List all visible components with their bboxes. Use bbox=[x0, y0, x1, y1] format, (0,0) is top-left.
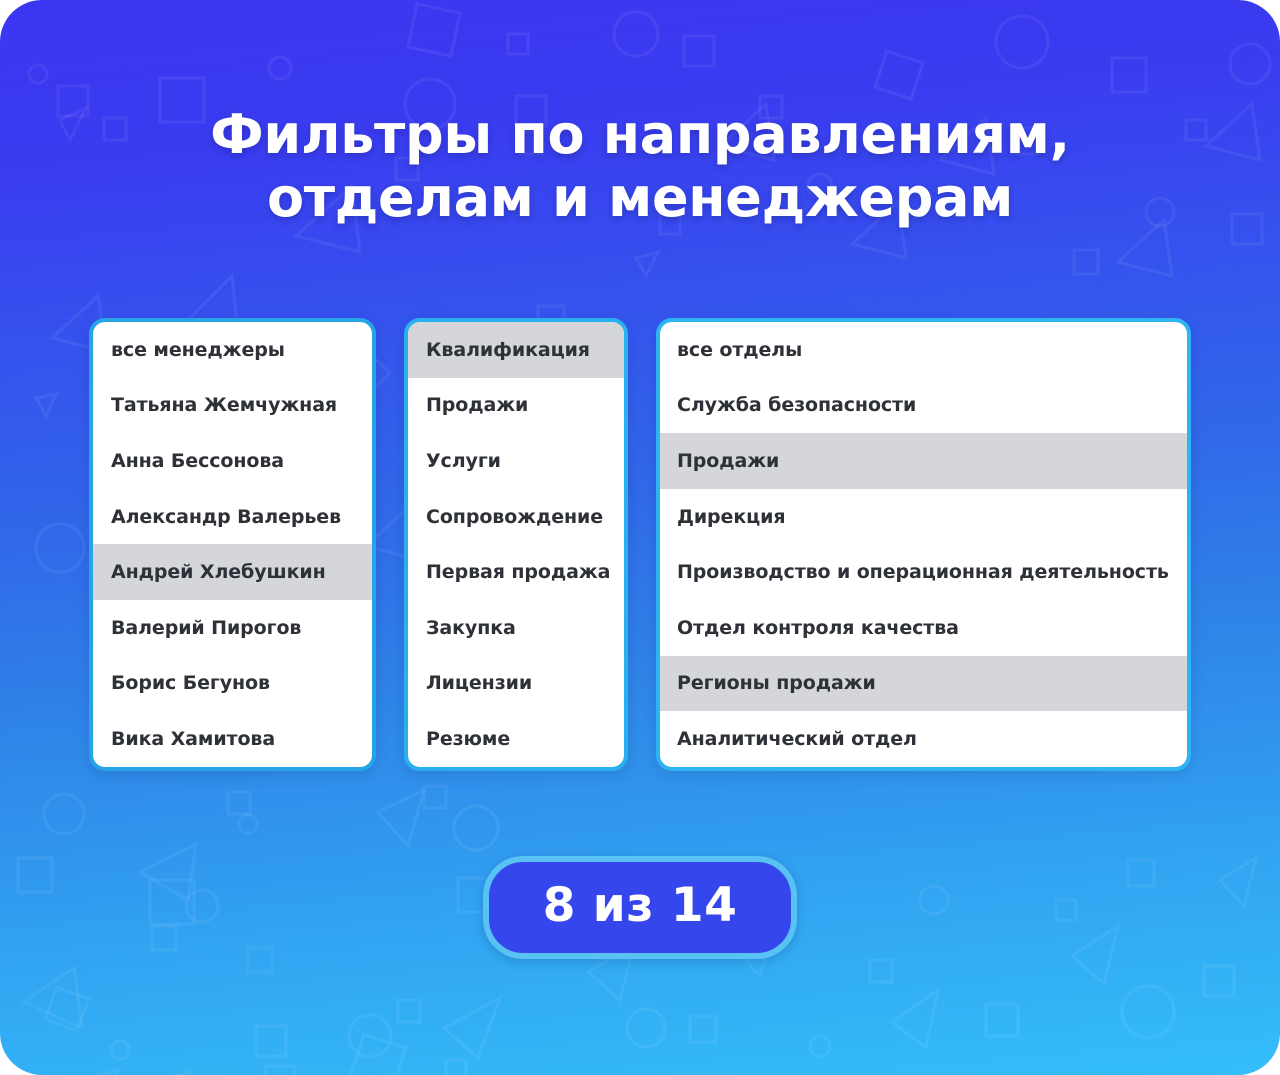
departments-item[interactable]: все отделы bbox=[660, 322, 1187, 378]
counter-badge[interactable]: 8 из 14 bbox=[483, 856, 798, 959]
directions-item[interactable]: Продажи bbox=[408, 378, 624, 434]
filters-row: все менеджерыТатьяна ЖемчужнаяАнна Бессо… bbox=[89, 318, 1191, 771]
departments-item[interactable]: Аналитический отдел bbox=[660, 711, 1187, 767]
departments-item[interactable]: Производство и операционная деятельность bbox=[660, 544, 1187, 600]
directions-item[interactable]: Лицензии bbox=[408, 656, 624, 712]
directions-item[interactable]: Услуги bbox=[408, 433, 624, 489]
managers-item[interactable]: Борис Бегунов bbox=[93, 656, 372, 712]
directions-item[interactable]: Квалификация bbox=[408, 322, 624, 378]
counter-area: 8 из 14 bbox=[0, 856, 1280, 959]
managers-item[interactable]: Валерий Пирогов bbox=[93, 600, 372, 656]
departments-list[interactable]: все отделыСлужба безопасностиПродажиДире… bbox=[660, 322, 1187, 767]
managers-item[interactable]: Андрей Хлебушкин bbox=[93, 544, 372, 600]
directions-list[interactable]: КвалификацияПродажиУслугиСопровождениеПе… bbox=[408, 322, 624, 767]
managers-filter-panel[interactable]: все менеджерыТатьяна ЖемчужнаяАнна Бессо… bbox=[89, 318, 376, 771]
page-title: Фильтры по направлениям, отделам и менед… bbox=[0, 104, 1280, 229]
directions-item[interactable]: Сопровождение bbox=[408, 489, 624, 545]
slide-canvas: Фильтры по направлениям, отделам и менед… bbox=[0, 0, 1280, 1075]
directions-item[interactable]: Первая продажа bbox=[408, 544, 624, 600]
directions-item[interactable]: Резюме bbox=[408, 711, 624, 767]
managers-item[interactable]: Александр Валерьев bbox=[93, 489, 372, 545]
departments-filter-panel[interactable]: все отделыСлужба безопасностиПродажиДире… bbox=[656, 318, 1191, 771]
managers-item[interactable]: все менеджеры bbox=[93, 322, 372, 378]
page-title-line-2: отделам и менеджерам bbox=[60, 167, 1220, 230]
departments-item[interactable]: Отдел контроля качества bbox=[660, 600, 1187, 656]
departments-item[interactable]: Регионы продажи bbox=[660, 656, 1187, 712]
managers-item[interactable]: Анна Бессонова bbox=[93, 433, 372, 489]
departments-item[interactable]: Дирекция bbox=[660, 489, 1187, 545]
page-title-line-1: Фильтры по направлениям, bbox=[60, 104, 1220, 167]
managers-list[interactable]: все менеджерыТатьяна ЖемчужнаяАнна Бессо… bbox=[93, 322, 372, 767]
directions-filter-panel[interactable]: КвалификацияПродажиУслугиСопровождениеПе… bbox=[404, 318, 628, 771]
departments-item[interactable]: Служба безопасности bbox=[660, 378, 1187, 434]
departments-item[interactable]: Продажи bbox=[660, 433, 1187, 489]
managers-item[interactable]: Татьяна Жемчужная bbox=[93, 378, 372, 434]
managers-item[interactable]: Вика Хамитова bbox=[93, 711, 372, 767]
directions-item[interactable]: Закупка bbox=[408, 600, 624, 656]
